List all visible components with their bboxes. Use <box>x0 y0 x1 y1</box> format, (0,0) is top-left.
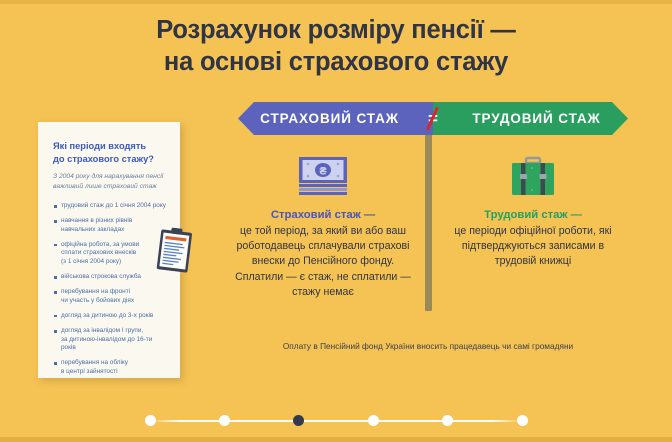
comparison-banner: СТРАХОВИЙ СТАЖ ТРУДОВИЙ СТАЖ = <box>238 102 628 135</box>
periods-list: трудовий стаж до 1 січня 2004 рокунавчан… <box>53 202 167 376</box>
carousel-line <box>150 420 522 422</box>
banner-left-arrow: СТРАХОВИЙ СТАЖ <box>238 102 433 135</box>
title-line-1: Розрахунок розміру пенсії — <box>0 14 672 46</box>
card-title-line-2: до страхового стажу? <box>53 153 167 166</box>
carousel-dot[interactable] <box>368 415 379 426</box>
insurance-record-column: ₴ Страховий стаж — це той період, за яки… <box>233 152 413 300</box>
title-line-2: на основі страхового стажу <box>0 46 672 78</box>
work-record-heading: Трудовий стаж — <box>443 208 623 223</box>
carousel-pagination[interactable] <box>150 414 522 428</box>
clipboard-icon <box>155 226 193 274</box>
list-item: догляд за інвалідом I групи,за дитиною-і… <box>53 327 167 353</box>
carousel-dot[interactable] <box>517 415 528 426</box>
card-title: Які періоди входять до страхового стажу? <box>53 140 167 165</box>
carousel-dot[interactable] <box>145 415 156 426</box>
list-item: догляд за дитиною до 3-х років <box>53 312 167 321</box>
carousel-dot[interactable] <box>219 415 230 426</box>
svg-text:₴: ₴ <box>319 166 327 178</box>
list-item: військова строкова служба <box>53 273 167 282</box>
list-item: навчання в різних рівнівнавчальних закла… <box>53 217 167 234</box>
work-record-body: це періоди офіційної роботи, які підтвер… <box>443 224 623 270</box>
work-record-column: Трудовий стаж — це періоди офіційної роб… <box>443 152 623 270</box>
insurance-record-heading: Страховий стаж — <box>233 208 413 223</box>
not-equal-icon: = <box>409 102 457 135</box>
banner-left-label: СТРАХОВИЙ СТАЖ <box>260 111 399 126</box>
card-subtitle: З 2004 року для нарахування пенсії важли… <box>53 172 167 191</box>
top-edge-strip <box>0 0 672 4</box>
card-subtitle-line-1: З 2004 року для нарахування пенсії <box>53 172 167 182</box>
list-item: перебування на облікув центрі зайнятості <box>53 359 167 376</box>
banner-right-arrow: ТРУДОВИЙ СТАЖ <box>433 102 628 135</box>
bottom-edge-strip <box>0 437 672 442</box>
card-title-line-1: Які періоди входять <box>53 140 167 153</box>
infographic-slide: Розрахунок розміру пенсії — на основі ст… <box>0 0 672 442</box>
list-item: трудовий стаж до 1 січня 2004 року <box>53 202 167 211</box>
signpost-pole <box>425 134 432 311</box>
carousel-dot-active[interactable] <box>293 415 304 426</box>
carousel-dot[interactable] <box>442 415 453 426</box>
banknotes-icon: ₴ <box>233 152 413 202</box>
briefcase-icon <box>443 152 623 202</box>
page-title: Розрахунок розміру пенсії — на основі ст… <box>0 14 672 78</box>
list-item: офіційна робота, за умовисплати страхови… <box>53 241 167 267</box>
banner-right-label: ТРУДОВИЙ СТАЖ <box>472 111 600 126</box>
list-item: перебування на фронтічи участь у бойових… <box>53 288 167 305</box>
card-subtitle-line-2: важливий лише страховий стаж <box>53 182 167 192</box>
insurance-record-body: це той період, за який ви або ваш робото… <box>233 224 413 300</box>
footer-note: Оплату в Пенсійний фонд України вносить … <box>233 340 623 352</box>
